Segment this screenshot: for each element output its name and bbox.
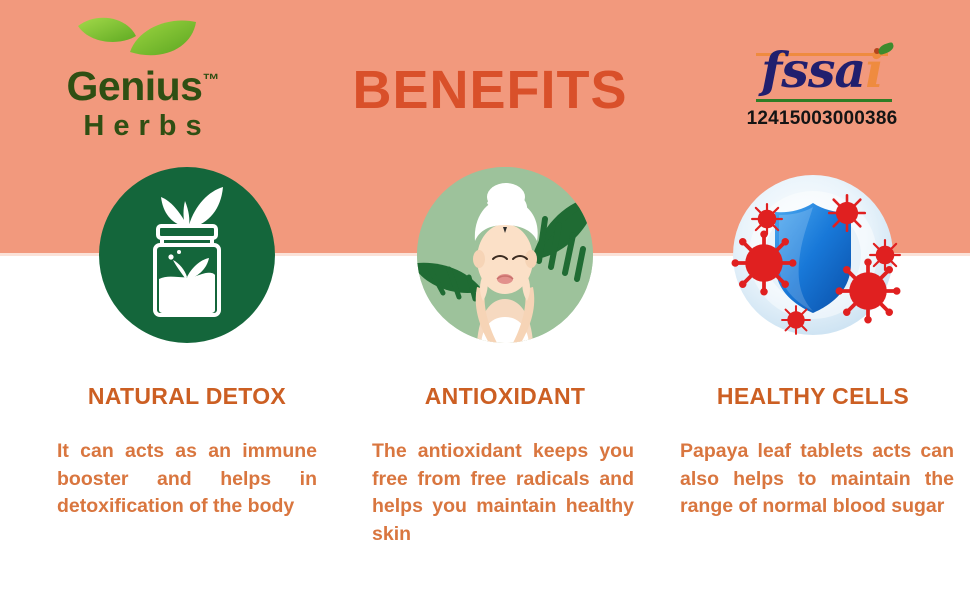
woman-skincare-icon bbox=[417, 167, 593, 343]
benefit-heading: HEALTHY CELLS bbox=[658, 385, 968, 408]
benefits-infographic: Genius™ Herbs BENEFITS fssai 12415003000… bbox=[0, 0, 970, 600]
benefit-body: The antioxidant keeps you free from free… bbox=[350, 438, 660, 549]
benefit-column-natural-detox: NATURAL DETOX It can acts as an immune b… bbox=[32, 167, 342, 521]
benefit-body: Papaya leaf tablets acts can also helps … bbox=[658, 438, 968, 521]
benefit-heading: ANTIOXIDANT bbox=[350, 385, 660, 408]
benefit-column-healthy-cells: HEALTHY CELLS Papaya leaf tablets acts c… bbox=[658, 167, 968, 521]
benefit-body: It can acts as an immune booster and hel… bbox=[32, 438, 342, 521]
shield-virus-protection-icon bbox=[725, 167, 901, 343]
benefit-column-antioxidant: ANTIOXIDANT The antioxidant keeps you fr… bbox=[350, 167, 660, 549]
benefits-columns: NATURAL DETOX It can acts as an immune b… bbox=[0, 0, 970, 600]
herb-jar-icon bbox=[99, 167, 275, 343]
benefit-heading: NATURAL DETOX bbox=[32, 385, 342, 408]
